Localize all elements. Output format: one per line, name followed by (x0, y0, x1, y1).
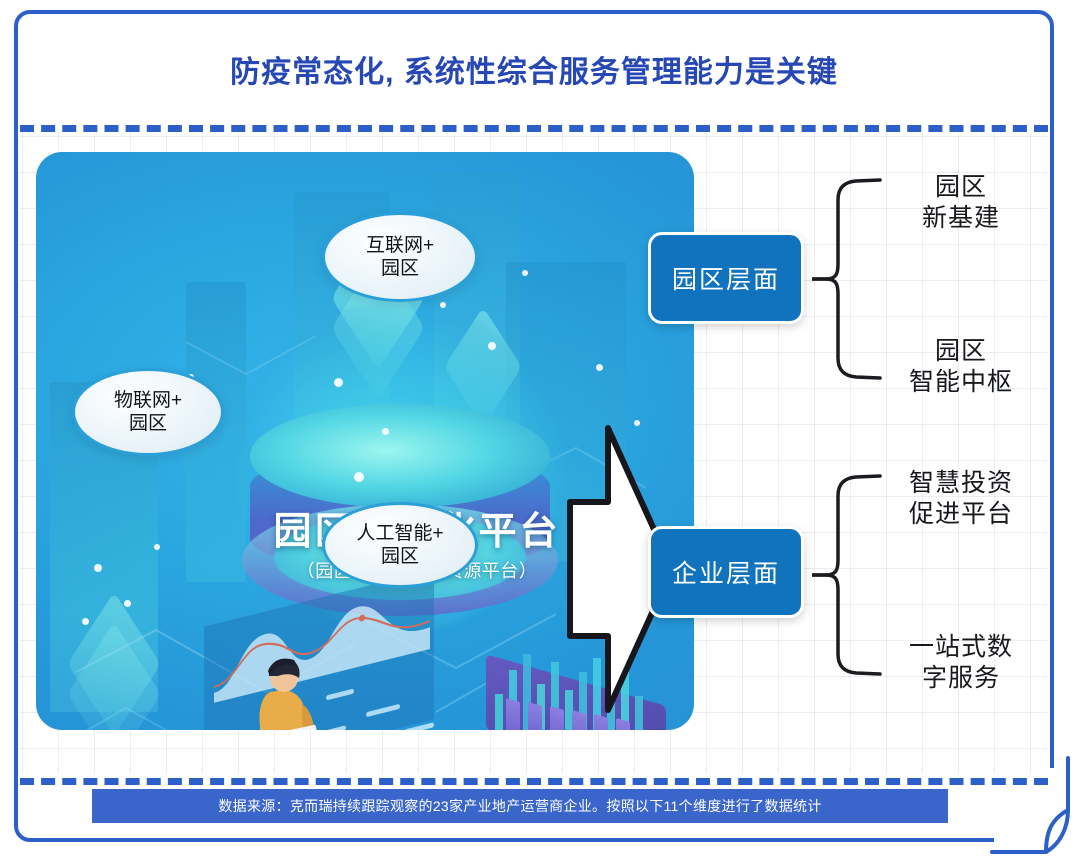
page-title: 防疫常态化, 系统性综合服务管理能力是关键 (230, 47, 838, 91)
brace-connector-enterprise (812, 472, 882, 678)
layer-box-park-label: 园区层面 (672, 260, 780, 296)
dashed-divider-bottom (20, 778, 1048, 785)
pill-internet-plus-park[interactable]: 互联网+ 园区 (322, 212, 478, 302)
particle-dot (596, 364, 603, 371)
layer-box-park[interactable]: 园区层面 (648, 232, 804, 324)
pill-line-2: 园区 (381, 546, 419, 567)
pill-ai-plus-park[interactable]: 人工智能+ 园区 (322, 502, 478, 588)
particle-dot (522, 270, 528, 276)
person-figure-icon (242, 652, 322, 730)
particle-dot (334, 378, 343, 387)
particle-dot (382, 428, 389, 435)
title-area: 防疫常态化, 系统性综合服务管理能力是关键 (18, 14, 1050, 124)
particle-dot (440, 302, 446, 308)
leaf-label-park-new-infrastructure: 园区 新基建 (876, 172, 1046, 233)
brace-connector-park (812, 176, 882, 382)
layer-box-enterprise-label: 企业层面 (672, 554, 780, 590)
footer-source-bar: 数据来源：克而瑞持续跟踪观察的23家产业地产运营商企业。按照以下11个维度进行了… (92, 789, 948, 823)
particle-dot (354, 472, 364, 482)
pill-line-1: 人工智能+ (356, 523, 443, 544)
server-slot (528, 702, 542, 730)
footer-source-text: 数据来源：克而瑞持续跟踪观察的23家产业地产运营商企业。按照以下11个维度进行了… (218, 796, 821, 816)
pill-iot-plus-park[interactable]: 物联网+ 园区 (72, 368, 224, 456)
leaf-label-one-stop-digital-service: 一站式数 字服务 (876, 632, 1046, 693)
particle-dot (154, 544, 160, 550)
pill-line-1: 互联网+ (366, 235, 434, 256)
pill-line-2: 园区 (381, 258, 419, 279)
pill-line-2: 园区 (129, 413, 167, 434)
dashed-divider-top (20, 125, 1048, 132)
leaf-line-1: 一站式数 (876, 632, 1046, 663)
server-slot (550, 706, 564, 730)
leaf-line-2: 智能中枢 (876, 367, 1046, 398)
particle-dot (124, 600, 131, 607)
particle-dot (488, 342, 496, 350)
layer-box-enterprise[interactable]: 企业层面 (648, 526, 804, 618)
pill-line-1: 物联网+ (114, 390, 182, 411)
leaf-line-2: 新基建 (876, 203, 1046, 234)
leaf-label-park-smart-hub: 园区 智能中枢 (876, 336, 1046, 397)
platform-cylinder-top (250, 404, 550, 508)
leaf-line-1: 园区 (876, 336, 1046, 367)
leaf-label-smart-investment-platform: 智慧投资 促进平台 (876, 468, 1046, 529)
leaf-line-1: 智慧投资 (876, 468, 1046, 499)
leaf-line-1: 园区 (876, 172, 1046, 203)
leaf-line-2: 字服务 (876, 663, 1046, 694)
particle-dot (94, 564, 102, 572)
server-slot (506, 698, 520, 730)
particle-dot (82, 618, 89, 625)
leaf-line-2: 促进平台 (876, 499, 1046, 530)
